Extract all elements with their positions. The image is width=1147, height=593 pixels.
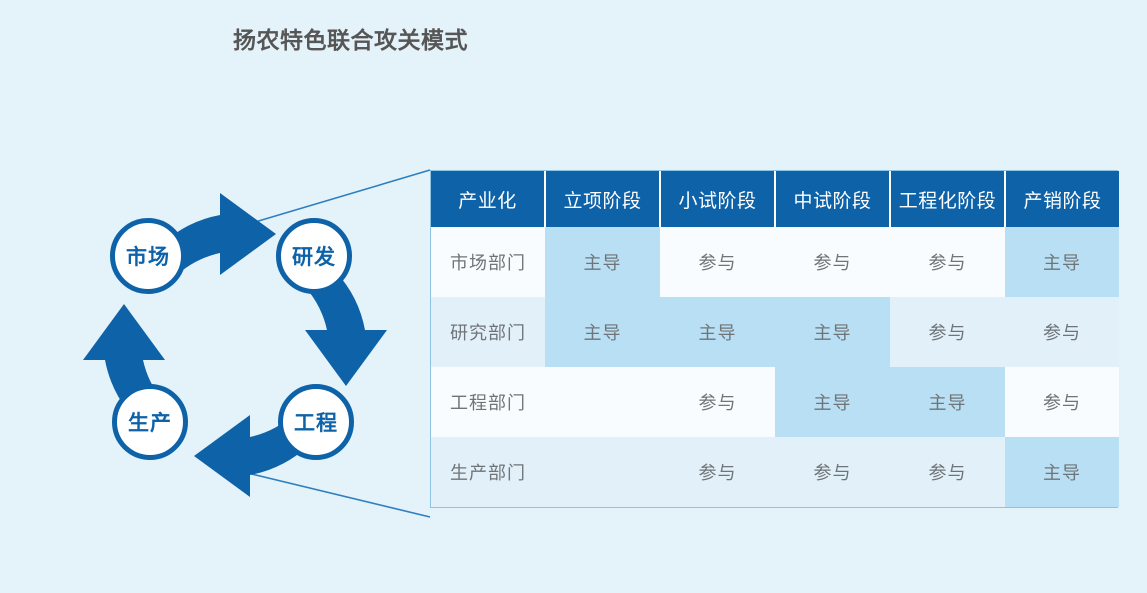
matrix-cell-2-0 [545,367,660,437]
matrix-header-cell-3: 中试阶段 [775,171,890,227]
cycle-node-rd-label: 研发 [292,241,336,271]
matrix-cell-1-0: 主导 [545,297,660,367]
table-row: 研究部门 主导 主导 主导 参与 参与 [431,297,1119,367]
cycle-node-engineering-label: 工程 [294,407,338,437]
matrix-cell-3-1: 参与 [660,437,775,507]
cycle-node-production[interactable]: 生产 [112,384,188,460]
matrix-cell-2-3: 主导 [890,367,1005,437]
matrix-cell-1-1: 主导 [660,297,775,367]
responsibility-matrix: 产业化 立项阶段 小试阶段 中试阶段 工程化阶段 产销阶段 市场部门 主导 参与… [430,170,1118,508]
matrix-row-label-1: 研究部门 [431,297,545,367]
matrix-header-cell-0: 产业化 [431,171,545,227]
matrix-cell-0-0: 主导 [545,227,660,297]
matrix-cell-3-2: 参与 [775,437,890,507]
matrix-header-cell-4: 工程化阶段 [890,171,1005,227]
matrix-cell-3-3: 参与 [890,437,1005,507]
matrix-cell-1-2: 主导 [775,297,890,367]
matrix-cell-0-4: 主导 [1005,227,1119,297]
cycle-node-rd[interactable]: 研发 [276,218,352,294]
matrix-header-cell-5: 产销阶段 [1005,171,1119,227]
page-title: 扬农特色联合攻关模式 [233,21,468,55]
matrix-cell-2-2: 主导 [775,367,890,437]
table-row: 市场部门 主导 参与 参与 参与 主导 [431,227,1119,297]
cycle-node-market-label: 市场 [126,241,170,271]
table-row: 生产部门 参与 参与 参与 主导 [431,437,1119,507]
matrix-row-label-0: 市场部门 [431,227,545,297]
matrix-cell-2-1: 参与 [660,367,775,437]
matrix-cell-3-4: 主导 [1005,437,1119,507]
cycle-node-production-label: 生产 [128,407,172,437]
cycle-diagram: 市场 研发 工程 生产 [70,180,400,510]
matrix-row-label-3: 生产部门 [431,437,545,507]
slide-canvas: 扬农特色联合攻关模式 市场 研发 工程 [0,0,1147,593]
matrix-cell-2-4: 参与 [1005,367,1119,437]
matrix-cell-0-1: 参与 [660,227,775,297]
matrix-header-row: 产业化 立项阶段 小试阶段 中试阶段 工程化阶段 产销阶段 [431,171,1119,227]
matrix-row-label-2: 工程部门 [431,367,545,437]
matrix-cell-0-2: 参与 [775,227,890,297]
matrix-cell-1-4: 参与 [1005,297,1119,367]
matrix-cell-3-0 [545,437,660,507]
matrix-header-cell-1: 立项阶段 [545,171,660,227]
matrix-cell-1-3: 参与 [890,297,1005,367]
cycle-node-market[interactable]: 市场 [110,218,186,294]
matrix-cell-0-3: 参与 [890,227,1005,297]
matrix-header-cell-2: 小试阶段 [660,171,775,227]
cycle-node-engineering[interactable]: 工程 [278,384,354,460]
matrix-table: 产业化 立项阶段 小试阶段 中试阶段 工程化阶段 产销阶段 市场部门 主导 参与… [431,171,1119,507]
table-row: 工程部门 参与 主导 主导 参与 [431,367,1119,437]
